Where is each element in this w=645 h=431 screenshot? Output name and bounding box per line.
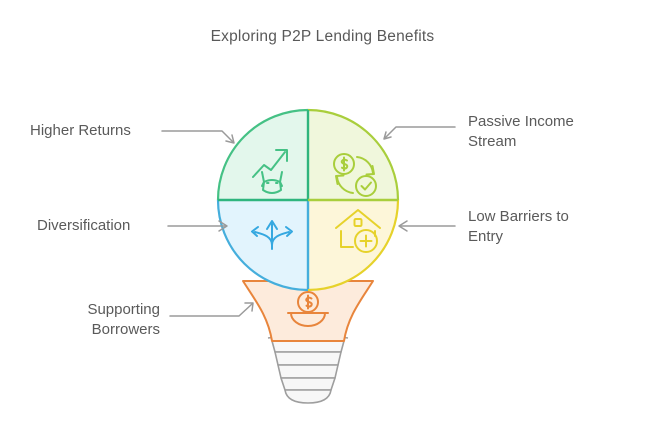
callout-arrow-diversification xyxy=(168,221,227,231)
callout-arrow-low-barriers-to-entry xyxy=(399,221,455,231)
lightbulb-diagram xyxy=(0,0,645,431)
infographic-canvas: Exploring P2P Lending Benefits Higher Re… xyxy=(0,0,645,431)
callout-arrow-supporting-borrowers xyxy=(170,303,253,316)
bulb-quadrants xyxy=(218,110,398,290)
bulb-screw-base xyxy=(268,335,348,403)
callout-arrow-passive-income-stream xyxy=(384,127,455,139)
callout-arrow-higher-returns xyxy=(162,131,234,143)
